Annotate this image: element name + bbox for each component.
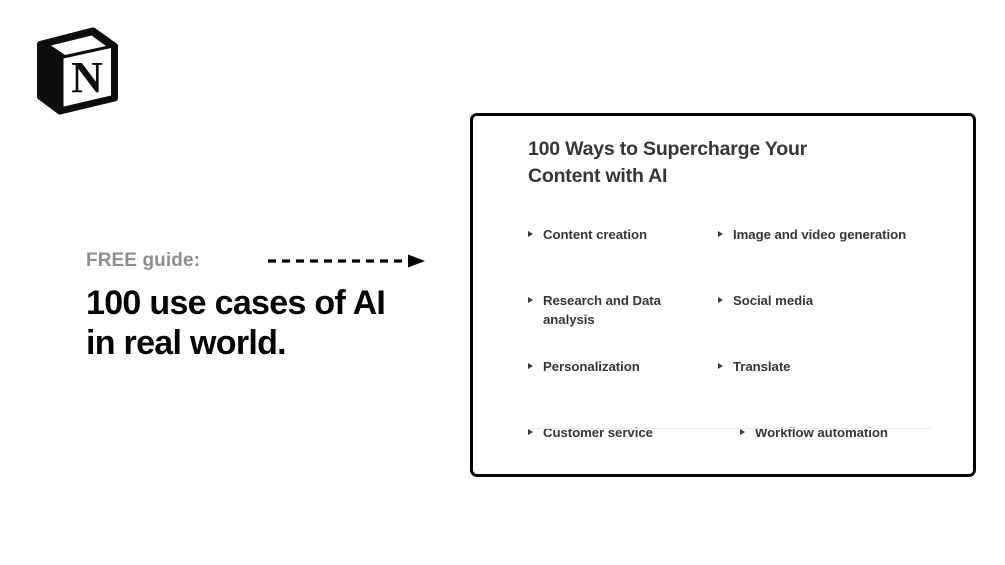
toggle-triangle-icon	[718, 363, 723, 369]
toggle-triangle-icon	[528, 363, 533, 369]
list-row: Research and Data analysis Social media	[528, 292, 928, 358]
toggle-item-personalization[interactable]: Personalization	[528, 358, 708, 377]
toggle-triangle-icon	[718, 297, 723, 303]
toggle-item-translate[interactable]: Translate	[718, 358, 928, 377]
toggle-list: Content creation Image and video generat…	[528, 226, 928, 490]
toggle-item-label: Personalization	[543, 358, 640, 377]
toggle-item-customer-service[interactable]: Customer service	[528, 424, 708, 443]
promo-headline: 100 use cases of AI in real world.	[86, 283, 446, 364]
toggle-triangle-icon	[718, 231, 723, 237]
toggle-triangle-icon	[740, 429, 745, 435]
toggle-item-label: Workflow automation	[755, 424, 888, 443]
svg-text:N: N	[71, 53, 103, 102]
list-row: Personalization Translate	[528, 358, 928, 424]
toggle-item-label: Content creation	[543, 226, 647, 245]
toggle-item-label: Translate	[733, 358, 790, 377]
toggle-item-research-and-data-analysis[interactable]: Research and Data analysis	[528, 292, 708, 329]
toggle-item-label: Research and Data analysis	[543, 292, 708, 329]
guide-preview-card: 100 Ways to Supercharge Your Content wit…	[470, 113, 976, 477]
toggle-item-content-creation[interactable]: Content creation	[528, 226, 708, 245]
toggle-triangle-icon	[528, 429, 533, 435]
card-title: 100 Ways to Supercharge Your Content wit…	[528, 136, 898, 190]
notion-logo-icon: N	[33, 26, 121, 116]
toggle-item-social-media[interactable]: Social media	[718, 292, 928, 311]
free-guide-label: FREE guide:	[86, 250, 200, 271]
toggle-item-workflow-automation[interactable]: Workflow automation	[740, 424, 950, 443]
toggle-item-label: Social media	[733, 292, 813, 311]
toggle-item-label: Image and video generation	[733, 226, 906, 245]
list-row: Content creation Image and video generat…	[528, 226, 928, 292]
card-divider	[531, 428, 931, 429]
eyebrow-row: FREE guide:	[86, 245, 446, 277]
toggle-item-image-and-video-generation[interactable]: Image and video generation	[718, 226, 928, 245]
list-row: Customer service Workflow automation	[528, 424, 928, 490]
toggle-triangle-icon	[528, 231, 533, 237]
dashed-right-arrow-icon	[268, 253, 426, 269]
toggle-item-label: Customer service	[543, 424, 653, 443]
promo-block: FREE guide: 100 use cases of AI in real …	[86, 245, 446, 364]
toggle-triangle-icon	[528, 297, 533, 303]
